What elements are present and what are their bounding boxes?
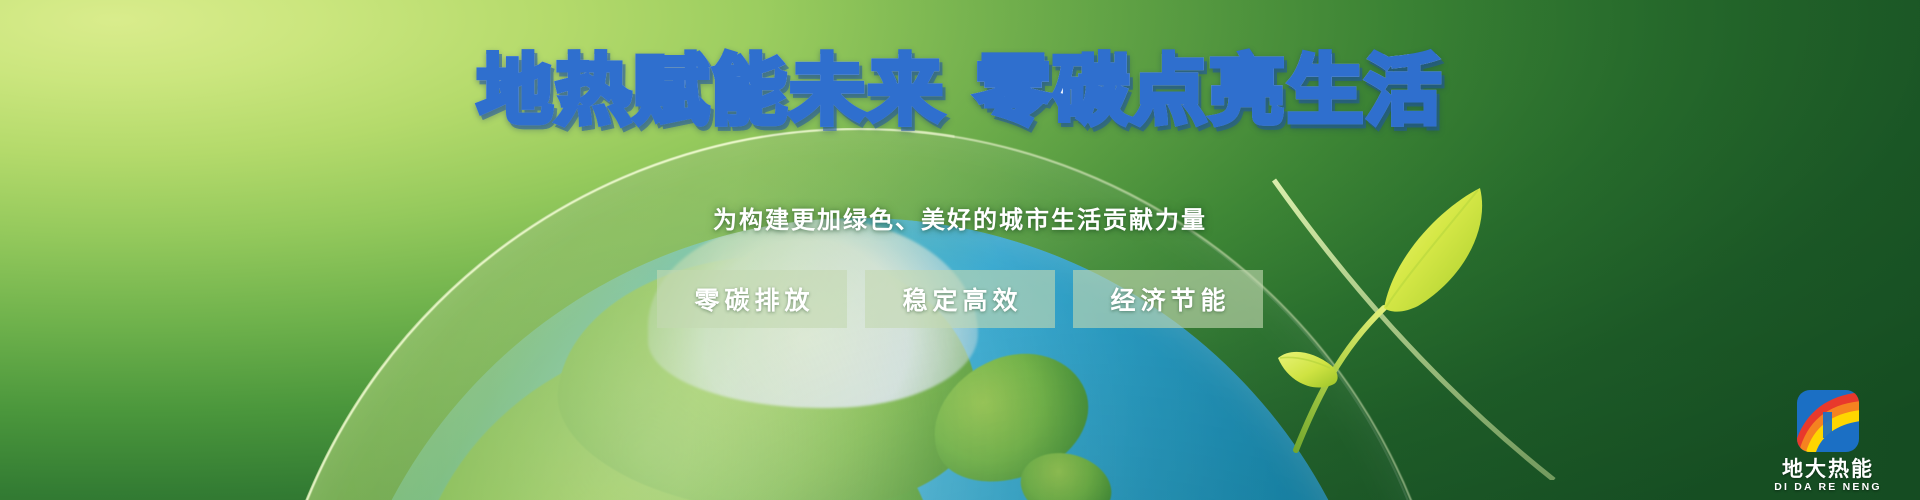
feature-tag-list: 零碳排放 稳定高效 经济节能	[0, 270, 1920, 328]
page-subtitle: 为构建更加绿色、美好的城市生活贡献力量	[0, 200, 1920, 235]
page-title: 地热赋能未来零碳点亮生活	[0, 54, 1920, 130]
logo-name-pinyin: DI DA RE NENG	[1764, 481, 1892, 494]
feature-tag-economical[interactable]: 经济节能	[1073, 270, 1263, 328]
feature-tag-stable-efficient[interactable]: 稳定高效	[865, 270, 1055, 328]
logo-name-cn: 地大热能	[1764, 458, 1892, 482]
headline-part-2: 零碳点亮生活	[975, 49, 1443, 134]
hero-banner: 地热赋能未来零碳点亮生活 为构建更加绿色、美好的城市生活贡献力量 零碳排放 稳定…	[0, 0, 1920, 500]
feature-tag-zero-carbon[interactable]: 零碳排放	[657, 270, 847, 328]
rainbow-swoosh-logo-icon	[1764, 390, 1892, 457]
headline-part-1: 地热赋能未来	[477, 49, 945, 134]
brand-logo[interactable]: 地大热能 DI DA RE NENG	[1764, 390, 1892, 494]
